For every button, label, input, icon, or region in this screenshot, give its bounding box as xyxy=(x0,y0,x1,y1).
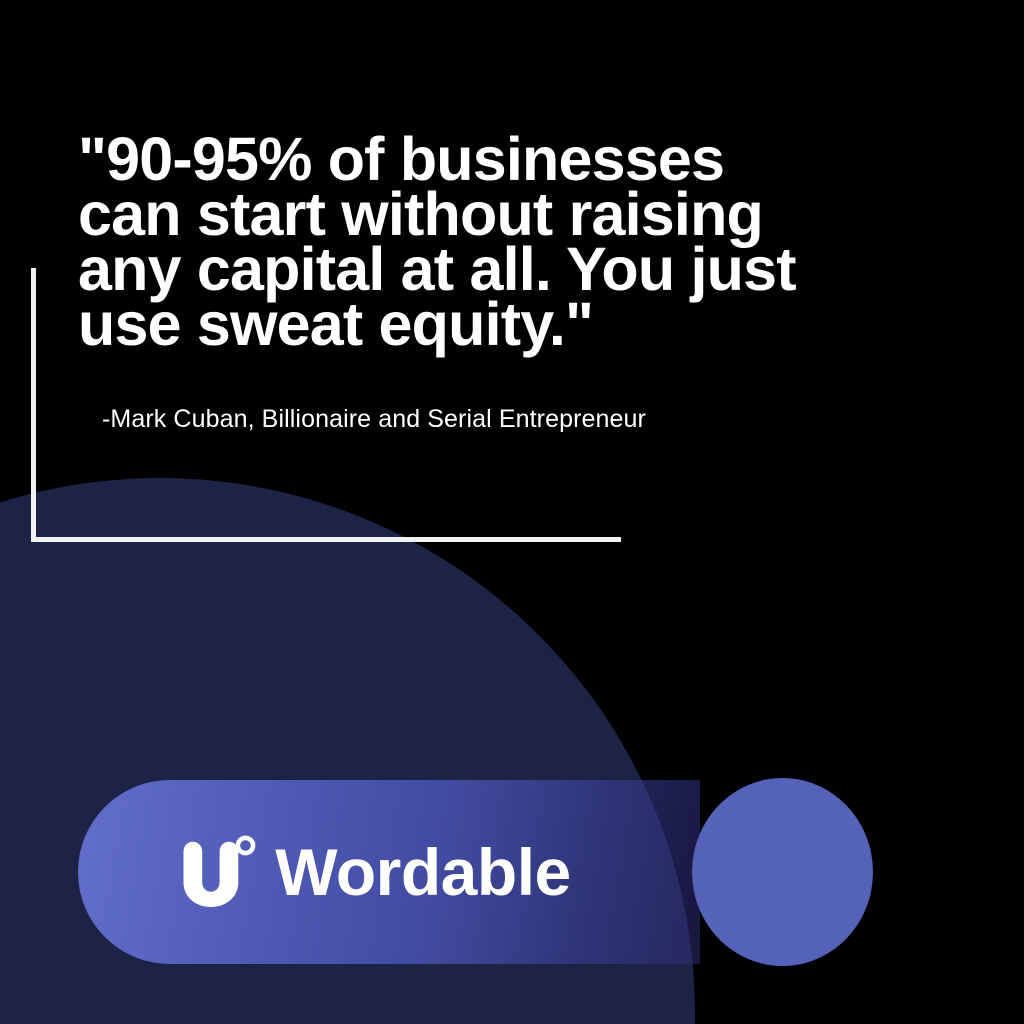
quote-text: "90-95% of businesses can start without … xyxy=(78,132,838,352)
quote-card: Wordable "90-95% of businesses can start… xyxy=(0,0,1024,1024)
quote-attribution: -Mark Cuban, Billionaire and Serial Entr… xyxy=(78,352,838,434)
quote-block: "90-95% of businesses can start without … xyxy=(78,132,838,434)
wordable-w-mark-icon xyxy=(179,835,257,909)
wordable-logo-pill: Wordable xyxy=(78,780,700,964)
wordable-logo-lockup: Wordable xyxy=(179,835,570,909)
small-indigo-circle xyxy=(692,778,873,966)
wordable-wordmark: Wordable xyxy=(275,839,570,905)
